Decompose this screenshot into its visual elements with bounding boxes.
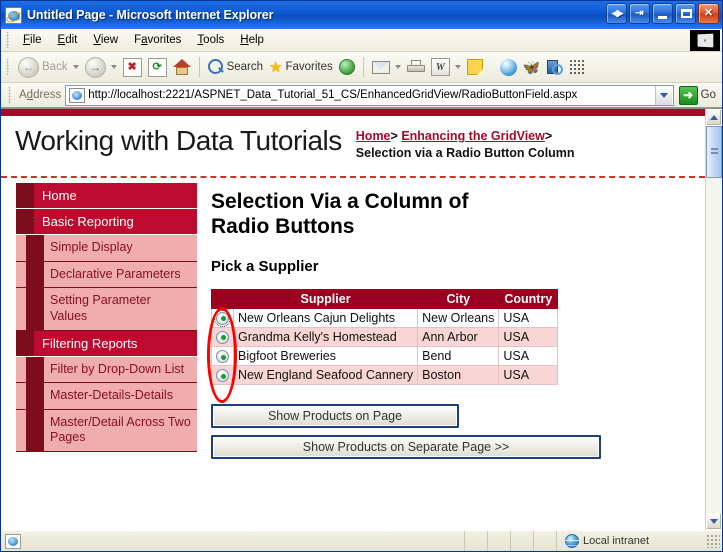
address-input[interactable]: http://localhost:2221/ASPNET_Data_Tutori… [65,85,673,106]
address-label: Address [19,89,61,101]
back-label: Back [42,61,68,73]
radio-button-icon[interactable] [216,312,229,325]
row-radio-cell[interactable] [212,346,234,365]
chevron-up-icon [710,115,718,120]
address-bar: Address http://localhost:2221/ASPNET_Dat… [1,83,722,108]
refresh-button[interactable]: ⟳ [145,58,170,77]
page-header: Working with Data Tutorials Home> Enhanc… [1,116,705,178]
scrollbar-thumb[interactable] [706,126,722,178]
show-products-separate-page-button[interactable]: Show Products on Separate Page >> [211,435,601,459]
tab-window-button[interactable]: ⇥ [629,3,650,24]
msn-icon: 🦋 [523,60,540,74]
back-dropdown-icon[interactable] [73,65,79,69]
radio-button-icon[interactable] [216,350,229,363]
restore-split-button[interactable]: ◀▶ [606,3,627,24]
table-row: Bigfoot Breweries Bend USA [212,346,558,365]
scrollbar-track[interactable] [706,126,722,513]
page-icon [69,88,85,103]
column-header-supplier: Supplier [234,289,418,308]
toolbar-gripper-icon[interactable] [4,59,12,75]
title-bar: Untitled Page - Microsoft Internet Explo… [1,1,722,29]
forward-arrow-icon: → [85,57,106,78]
page-viewport: Working with Data Tutorials Home> Enhanc… [1,108,722,530]
edit-word-icon: W [431,58,450,76]
row-radio-cell[interactable] [212,366,234,385]
print-button[interactable] [404,60,428,74]
menu-gripper-icon[interactable] [4,32,12,48]
menu-help[interactable]: Help [232,32,272,48]
breadcrumb-sep-2: > [545,129,552,143]
messenger-icon [500,59,517,76]
forward-button[interactable]: → [82,57,120,78]
forward-dropdown-icon[interactable] [111,65,117,69]
browser-toolbar: ← Back → ✖ ⟳ Search ★ Favorites [1,52,722,83]
cell-country: USA [499,327,558,346]
refresh-icon: ⟳ [148,58,167,77]
sidebar-item-master-details-details[interactable]: Master-Details-Details [16,383,197,410]
radio-button-icon[interactable] [216,369,229,382]
search-icon [208,59,224,75]
sidebar-item-home[interactable]: Home [16,183,197,209]
column-header-radio [212,289,234,308]
scroll-down-button[interactable] [706,513,722,530]
history-icon [339,59,355,75]
menu-favorites[interactable]: Favorites [126,32,189,48]
cell-country: USA [499,366,558,385]
page-body: Home Basic Reporting Simple Display Decl… [1,178,705,466]
row-radio-cell[interactable] [212,308,234,327]
print-icon [407,60,425,74]
stop-icon: ✖ [123,58,142,77]
home-button[interactable] [170,59,194,75]
address-url-text: http://localhost:2221/ASPNET_Data_Tutori… [88,89,654,101]
go-label: Go [701,89,716,101]
sidebar-item-filtering-reports[interactable]: Filtering Reports [16,331,197,357]
edit-dropdown-icon[interactable] [455,65,461,69]
main-content: Selection Via a Column of Radio Buttons … [197,178,705,466]
cell-city: New Orleans [418,308,499,327]
ie-page-icon [5,7,22,24]
cell-supplier: Bigfoot Breweries [234,346,418,365]
cell-city: Ann Arbor [418,327,499,346]
show-products-on-page-button[interactable]: Show Products on Page [211,404,459,428]
status-pane-1 [464,531,487,551]
home-icon [173,59,191,75]
go-arrow-icon: ➜ [679,86,698,105]
suppliers-gridview: Supplier City Country N [211,289,558,386]
go-button[interactable]: ➜ Go [679,86,716,105]
research-button[interactable] [543,59,566,76]
status-pane-3 [510,531,533,551]
favorites-button[interactable]: ★ Favorites [266,60,336,75]
sidebar-item-master-detail-two-pages[interactable]: Master/Detail Across Two Pages [16,410,197,452]
msn-button[interactable]: 🦋 [520,60,543,74]
site-title: Working with Data Tutorials [15,122,342,155]
sidebar-nav: Home Basic Reporting Simple Display Decl… [1,178,197,452]
column-header-country: Country [499,289,558,308]
page-top-red-bar [1,109,705,116]
status-page-icon [5,534,21,549]
history-button[interactable] [336,59,358,75]
sidebar-item-filter-by-drop-down-list[interactable]: Filter by Drop-Down List [16,357,197,384]
cell-city: Boston [418,366,499,385]
row-radio-cell[interactable] [212,327,234,346]
search-label: Search [227,61,263,73]
cell-country: USA [499,308,558,327]
edit-button[interactable]: W [428,58,464,76]
menu-bar: File Edit View Favorites Tools Help [1,29,722,52]
mail-dropdown-icon[interactable] [395,65,401,69]
status-pane-4 [533,531,556,551]
breadcrumb-link-section[interactable]: Enhancing the GridView [401,129,545,143]
table-row: New England Seafood Cannery Boston USA [212,366,558,385]
browser-window: Untitled Page - Microsoft Internet Explo… [0,0,723,552]
mail-icon [372,61,390,74]
close-button[interactable]: ✕ [698,3,719,24]
chevron-down-icon [710,519,718,524]
menu-edit[interactable]: Edit [50,32,86,48]
notes-button[interactable] [464,59,486,75]
security-zone[interactable]: Local intranet [556,531,706,551]
intranet-globe-icon [565,534,579,548]
cell-supplier: New Orleans Cajun Delights [234,308,418,327]
table-row: New Orleans Cajun Delights New Orleans U… [212,308,558,327]
page-heading: Selection Via a Column of Radio Buttons [211,190,531,240]
sidebar-item-simple-display[interactable]: Simple Display [16,235,197,262]
scroll-up-button[interactable] [706,109,722,126]
column-header-city: City [418,289,499,308]
address-gripper-icon[interactable] [6,87,14,103]
mail-button[interactable] [369,61,404,74]
table-header-row: Supplier City Country [212,289,558,308]
encoding-button[interactable] [566,59,589,76]
resize-grip-icon[interactable] [706,534,720,548]
minimize-button[interactable] [652,3,673,24]
status-bar: Local intranet [1,530,722,551]
breadcrumb-current: Selection via a Radio Button Column [356,146,575,160]
toolbar-separator-2 [363,57,364,77]
cell-city: Bend [418,346,499,365]
research-icon [546,59,563,76]
back-arrow-icon: ← [18,57,39,78]
messenger-button[interactable] [497,59,520,76]
menu-tools[interactable]: Tools [189,32,232,48]
search-button[interactable]: Search [205,59,266,75]
address-dropdown-button[interactable] [655,86,672,105]
breadcrumb-sep-1: > [391,129,398,143]
cell-supplier: Grandma Kelly's Homestead [234,327,418,346]
toolbar-separator [199,57,200,77]
status-pane-2 [487,531,510,551]
sidebar-item-basic-reporting[interactable]: Basic Reporting [16,209,197,235]
maximize-button[interactable] [675,3,696,24]
cell-country: USA [499,346,558,365]
sidebar-item-setting-parameter-values[interactable]: Setting Parameter Values [16,288,197,330]
encoding-icon [569,59,586,76]
back-button[interactable]: ← Back [15,57,82,78]
cell-supplier: New England Seafood Cannery [234,366,418,385]
stop-button[interactable]: ✖ [120,58,145,77]
window-title: Untitled Page - Microsoft Internet Explo… [27,8,273,22]
menu-file[interactable]: File [15,32,50,48]
menu-view[interactable]: View [85,32,126,48]
breadcrumb: Home> Enhancing the GridView> Selection … [356,122,606,162]
favorites-star-icon: ★ [269,60,282,75]
vertical-scrollbar[interactable] [705,109,722,530]
security-zone-label: Local intranet [583,535,649,547]
notes-icon [467,59,483,75]
windows-logo-icon [690,30,720,51]
breadcrumb-link-home[interactable]: Home [356,129,391,143]
web-page: Working with Data Tutorials Home> Enhanc… [1,109,705,530]
action-buttons: Show Products on Page Show Products on S… [211,404,695,459]
sidebar-item-declarative-parameters[interactable]: Declarative Parameters [16,262,197,289]
gridview-wrapper: Supplier City Country N [211,289,558,386]
radio-button-icon[interactable] [216,331,229,344]
table-row: Grandma Kelly's Homestead Ann Arbor USA [212,327,558,346]
favorites-label: Favorites [285,61,332,73]
window-buttons: ◀▶ ⇥ ✕ [606,3,719,24]
section-subheading: Pick a Supplier [211,258,695,275]
